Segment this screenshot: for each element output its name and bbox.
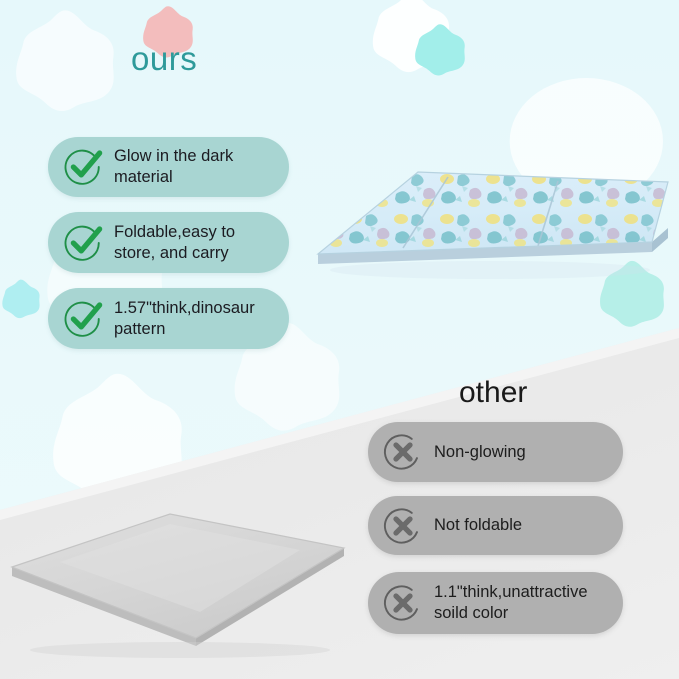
feature-label: 1.1"think,unattractive soild color xyxy=(434,582,623,624)
check-circle-icon xyxy=(62,222,104,264)
foldable-dinosaur-play-mat-image xyxy=(300,130,679,300)
page-title-other: other xyxy=(459,378,527,408)
check-circle-icon xyxy=(62,298,104,340)
feature-pill-other-1[interactable]: Non-glowing xyxy=(368,422,623,482)
page-title-ours: ours xyxy=(131,42,197,75)
plain-gray-mat-image xyxy=(0,490,350,670)
x-circle-icon xyxy=(382,505,424,547)
x-circle-icon xyxy=(382,431,424,473)
check-circle-icon xyxy=(62,146,104,188)
feature-label: Glow in the dark material xyxy=(114,146,289,188)
feature-label: Not foldable xyxy=(434,515,532,536)
feature-label: 1.57"think,dinosaur pattern xyxy=(114,298,289,340)
x-circle-icon xyxy=(382,582,424,624)
feature-label: Non-glowing xyxy=(434,442,536,463)
comparison-infographic: ours other xyxy=(0,0,679,679)
feature-label: Foldable,easy to store, and carry xyxy=(114,222,289,264)
feature-pill-ours-1[interactable]: Glow in the dark material xyxy=(48,137,289,197)
feature-pill-other-2[interactable]: Not foldable xyxy=(368,496,623,555)
feature-pill-other-3[interactable]: 1.1"think,unattractive soild color xyxy=(368,572,623,634)
feature-pill-ours-3[interactable]: 1.57"think,dinosaur pattern xyxy=(48,288,289,349)
feature-pill-ours-2[interactable]: Foldable,easy to store, and carry xyxy=(48,212,289,273)
